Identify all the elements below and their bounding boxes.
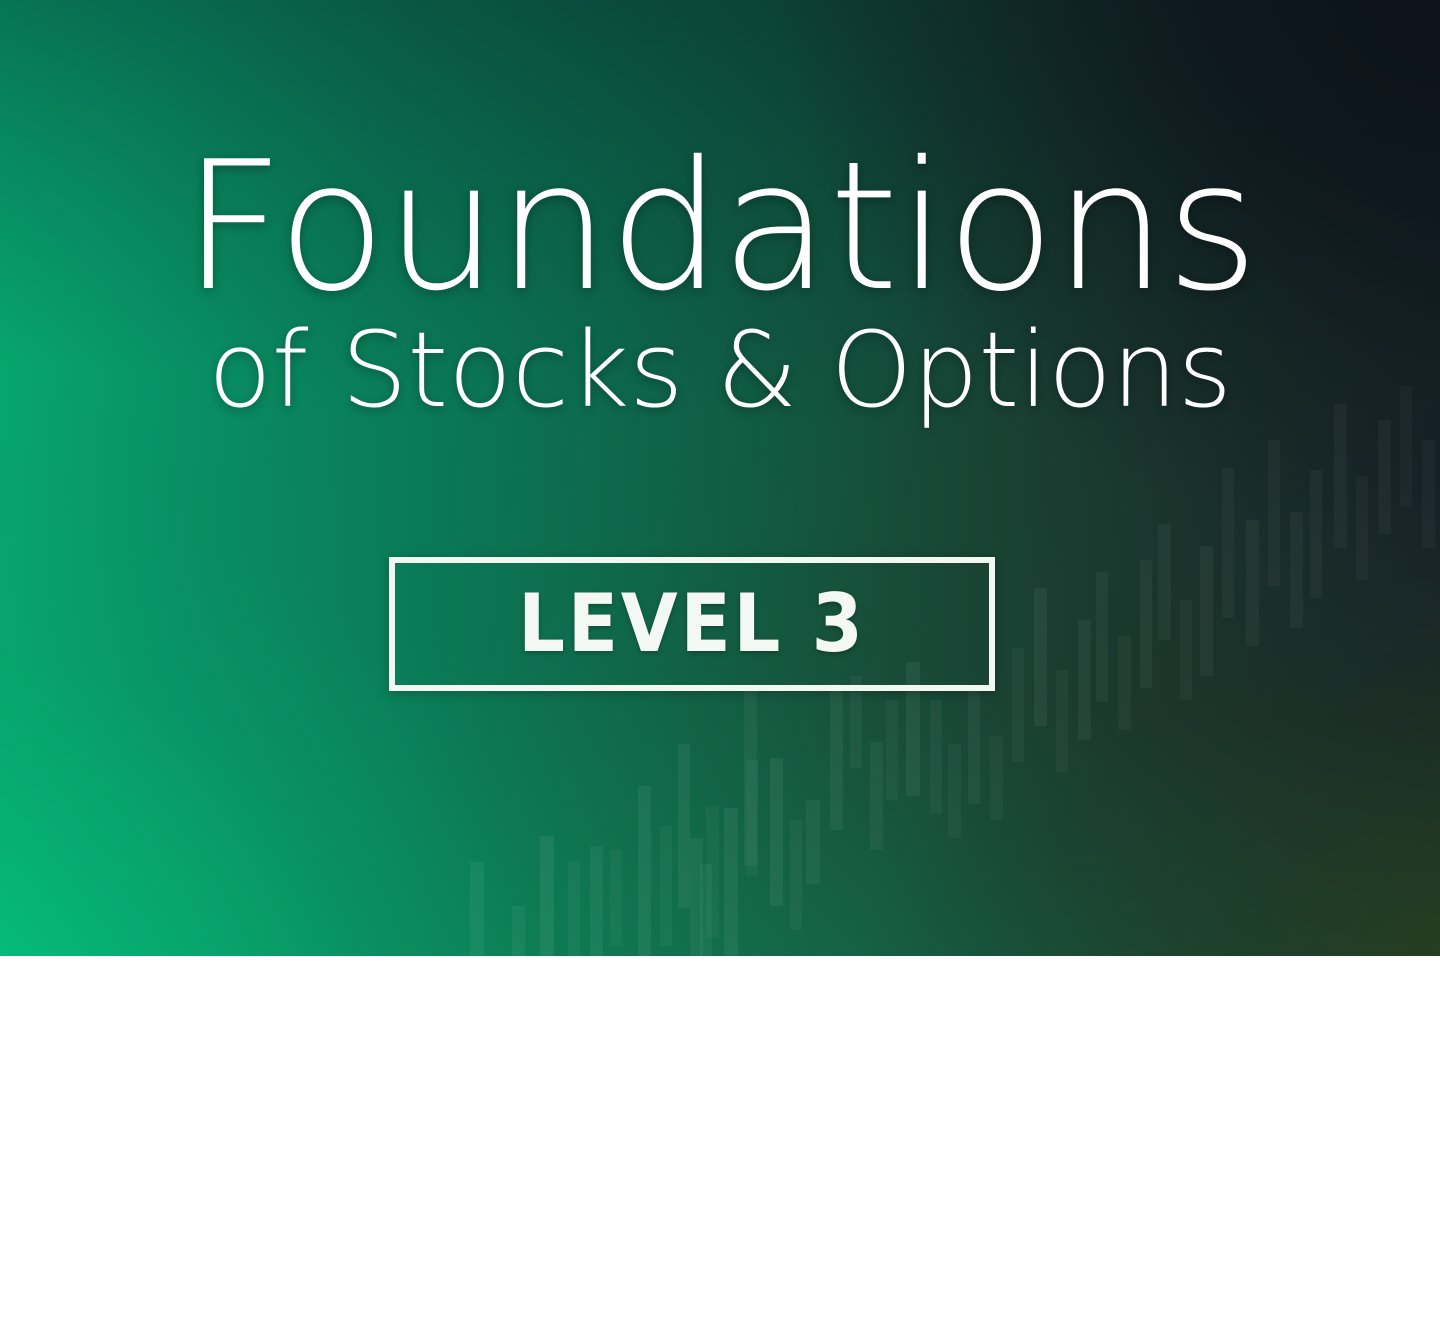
- candlestick-bar: [948, 744, 961, 838]
- candlestick-bar: [700, 864, 712, 956]
- candlestick-bar: [1310, 470, 1322, 598]
- candlestick-bar: [870, 742, 883, 850]
- candlestick-bar: [790, 820, 802, 930]
- candlestick-bar: [1222, 468, 1234, 618]
- level-badge: LEVEL 3: [389, 557, 995, 691]
- candlestick-bar: [1422, 440, 1435, 548]
- candlestick-bar: [1096, 572, 1108, 702]
- candlestick-bar: [1246, 520, 1259, 646]
- candlestick-bar: [678, 744, 690, 908]
- candlestick-bar: [1268, 440, 1280, 586]
- candlestick-bar: [590, 846, 603, 956]
- candlestick-bar: [806, 800, 820, 884]
- course-cover-hero: Foundations of Stocks & Options LEVEL 3: [0, 0, 1440, 956]
- candlestick-bar: [1140, 560, 1152, 688]
- candlestick-bar: [1290, 512, 1303, 628]
- candlestick-bar: [540, 836, 554, 956]
- candlestick-bar: [568, 862, 580, 956]
- candlestick-bar: [638, 786, 651, 956]
- level-badge-label: LEVEL 3: [518, 584, 865, 664]
- course-title-subtitle: of Stocks & Options: [0, 318, 1440, 422]
- candlestick-bar: [724, 808, 738, 956]
- candlestick-bar: [1158, 524, 1171, 640]
- candlestick-bar: [1078, 620, 1091, 740]
- course-title-main: Foundations: [0, 138, 1440, 316]
- watermark-strip: DLSUB.COM ADMIN@DLSUB.COM: [0, 956, 1440, 1336]
- candlestick-bar: [770, 758, 783, 906]
- candlestick-bar: [990, 736, 1003, 820]
- candlestick-bar: [512, 906, 525, 956]
- candlestick-bar: [930, 700, 942, 814]
- candlestick-bar: [746, 760, 758, 876]
- candlestick-bar: [1012, 648, 1024, 762]
- candlestick-bar: [1200, 546, 1213, 676]
- candlestick-bar: [830, 684, 843, 830]
- candlestick-bar: [660, 826, 672, 946]
- candlestick-bar: [1034, 588, 1047, 726]
- candlestick-bar: [1118, 636, 1131, 730]
- course-cover-page: Foundations of Stocks & Options LEVEL 3 …: [0, 0, 1440, 1336]
- candlestick-bar: [1334, 404, 1347, 548]
- candlestick-bar: [1180, 600, 1192, 700]
- candlestick-bar: [1356, 476, 1368, 580]
- candlestick-bar: [470, 862, 484, 956]
- candlestick-bar: [968, 690, 980, 804]
- candlestick-bar: [886, 700, 898, 800]
- candlestick-bar: [1378, 420, 1391, 534]
- candlestick-bar: [1056, 670, 1068, 772]
- candlestick-bar: [610, 850, 622, 946]
